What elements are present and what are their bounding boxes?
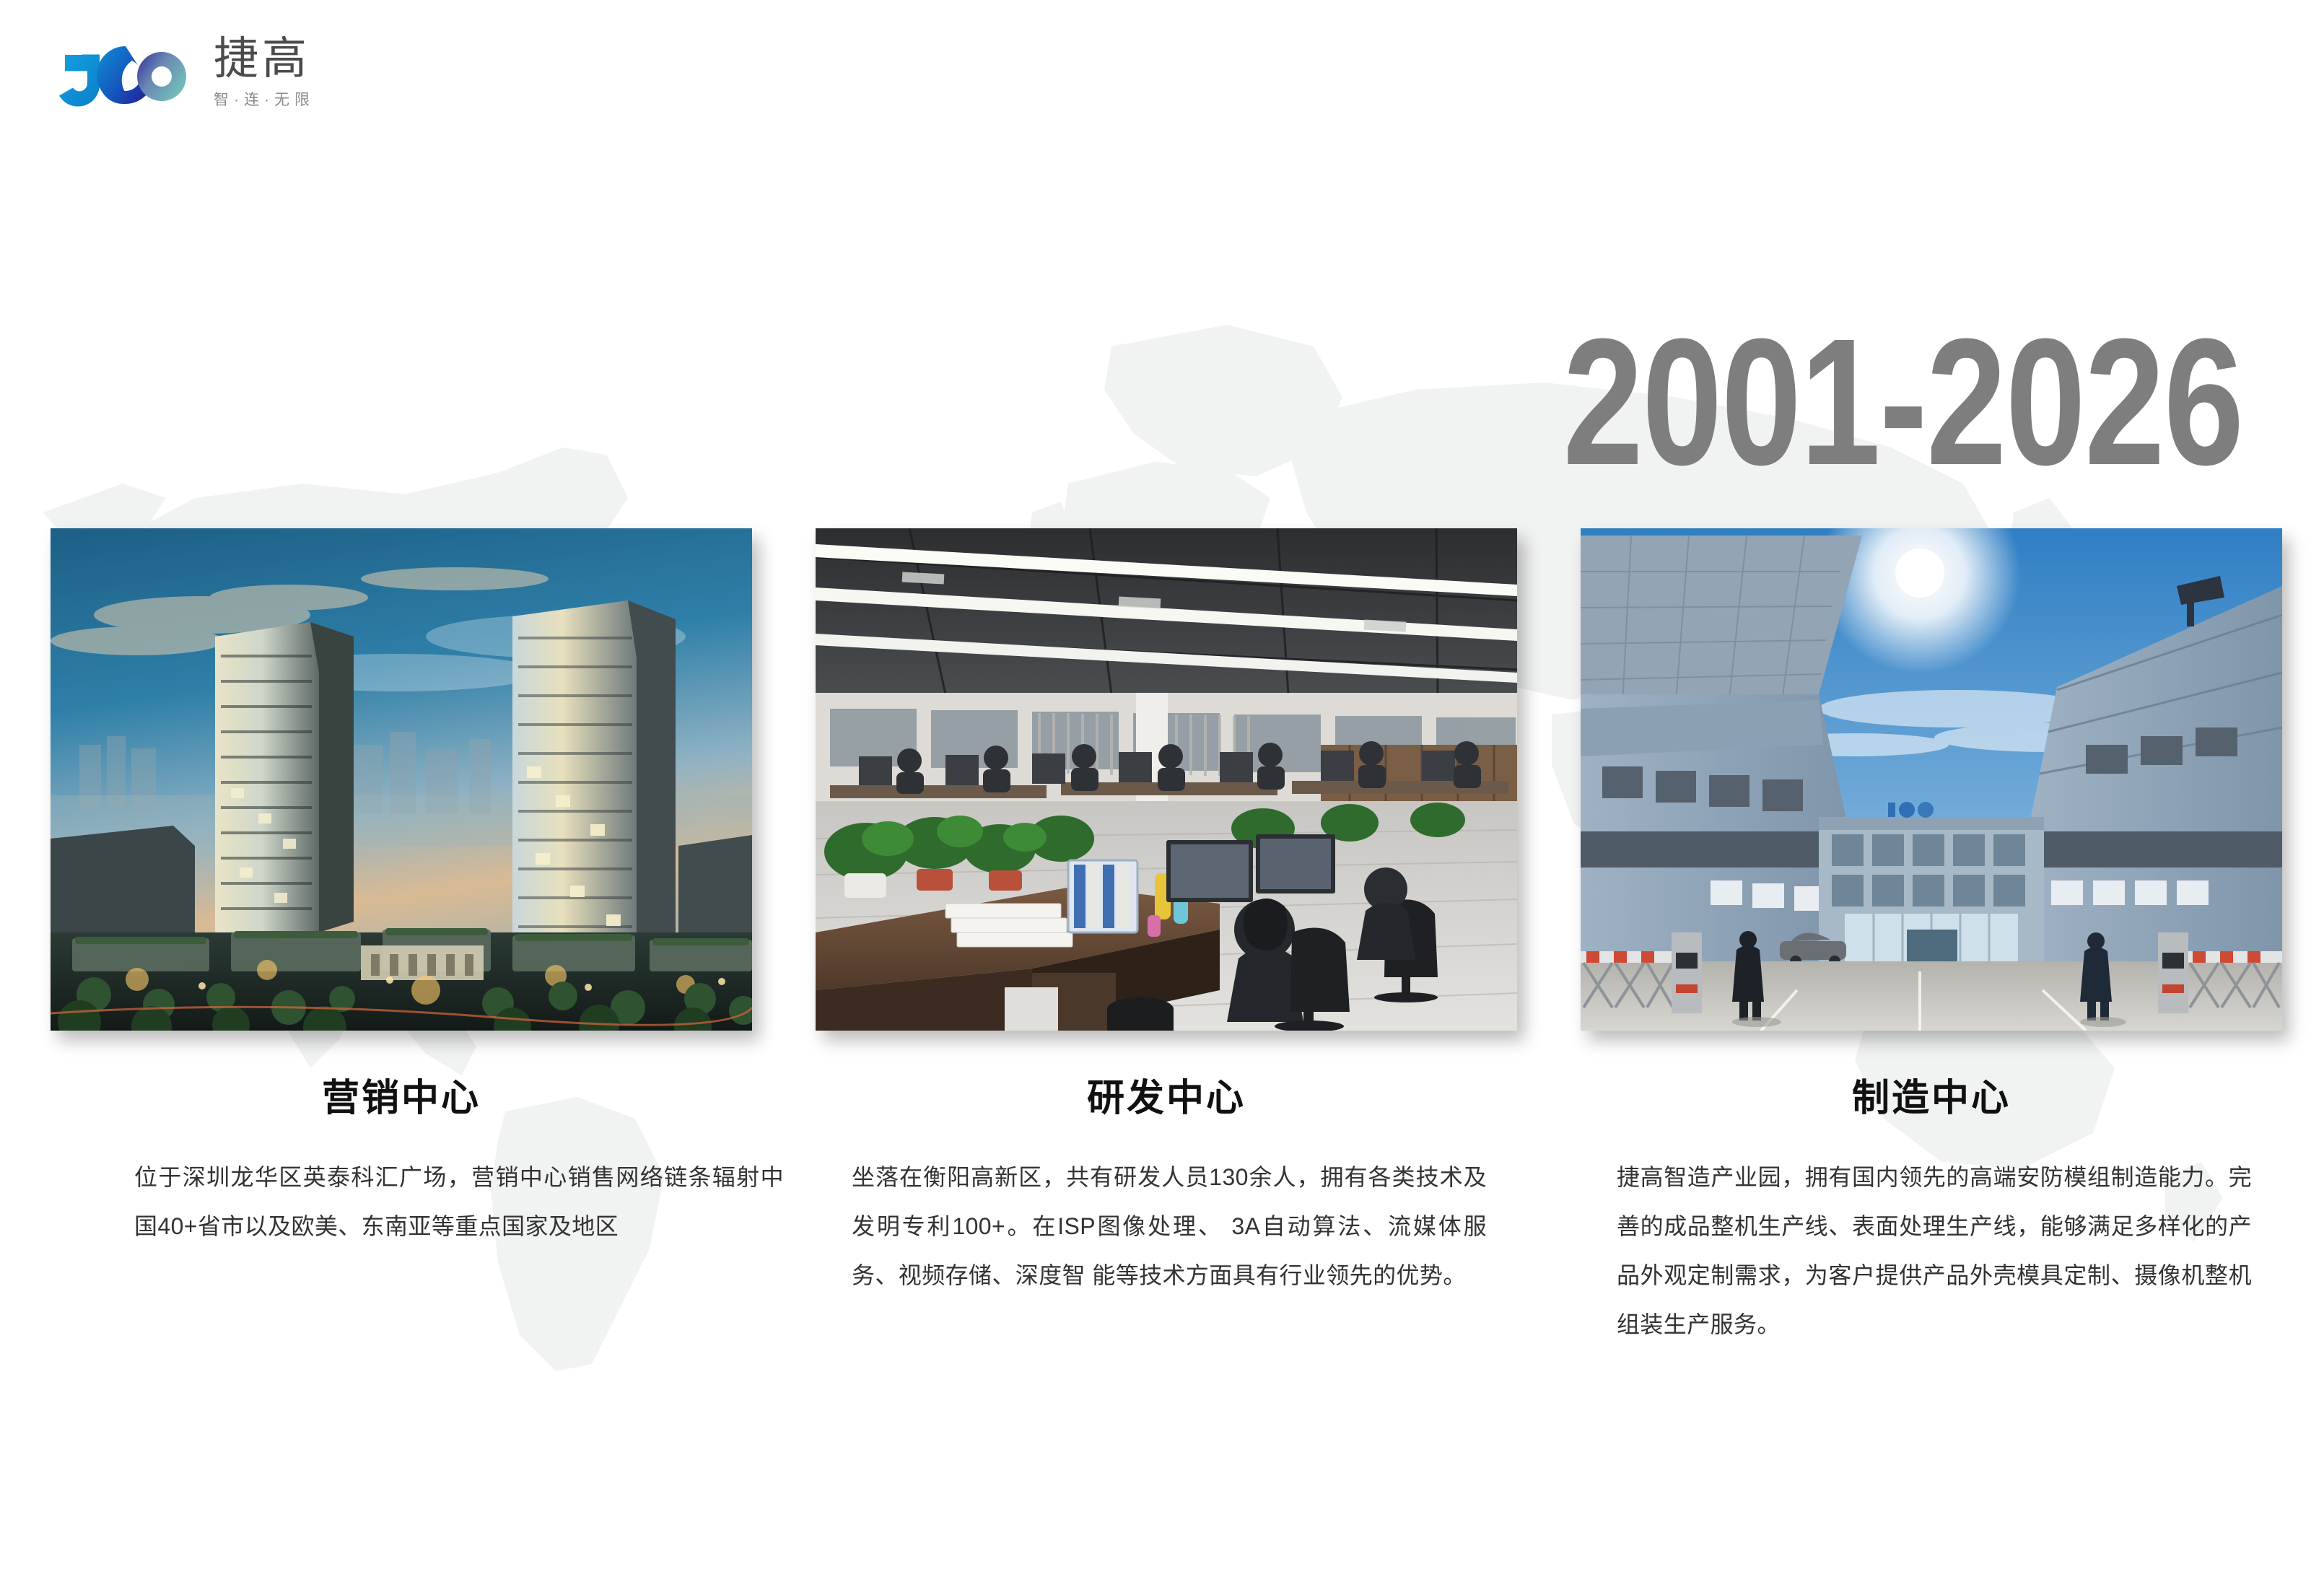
slide-canvas: 捷高 智·连·无限 2001-2026 <box>0 0 2324 1582</box>
marketing-center-photo <box>51 528 752 1031</box>
brand-wordmark: 捷高 智·连·无限 <box>214 36 315 113</box>
card-title: 营销中心 <box>322 1078 481 1119</box>
center-card: 研发中心 坐落在衡阳高新区，共有研发人员130余人，拥有各类技术及发明专利100… <box>816 528 1517 1349</box>
manufacturing-center-photo <box>1581 528 2282 1031</box>
brand-name-cn: 捷高 <box>214 36 310 82</box>
card-body-text: 捷高智造产业园，拥有国内领先的高端安防模组制造能力。完善的成品整机生产线、表面处… <box>1617 1153 2252 1349</box>
brand-tagline: 智·连·无限 <box>214 88 315 110</box>
card-title: 制造中心 <box>1852 1078 2011 1119</box>
card-body-text: 坐落在衡阳高新区，共有研发人员130余人，拥有各类技术及发明专利100+。在IS… <box>852 1153 1487 1300</box>
card-title: 研发中心 <box>1087 1078 1246 1119</box>
card-body-text: 位于深圳龙华区英泰科汇广场，营销中心销售网络链条辐射中国40+省市以及欧美、东南… <box>134 1153 784 1251</box>
center-card: 制造中心 捷高智造产业园，拥有国内领先的高端安防模组制造能力。完善的成品整机生产… <box>1581 528 2282 1349</box>
centers-grid: 营销中心 位于深圳龙华区英泰科汇广场，营销中心销售网络链条辐射中国40+省市以及… <box>51 528 2247 1349</box>
year-range-headline: 2001-2026 <box>1563 319 2243 485</box>
jco-logo-icon <box>56 35 195 113</box>
center-card: 营销中心 位于深圳龙华区英泰科汇广场，营销中心销售网络链条辐射中国40+省市以及… <box>51 528 752 1349</box>
brand-logo[interactable]: 捷高 智·连·无限 <box>56 35 315 113</box>
rd-center-photo <box>816 528 1517 1031</box>
